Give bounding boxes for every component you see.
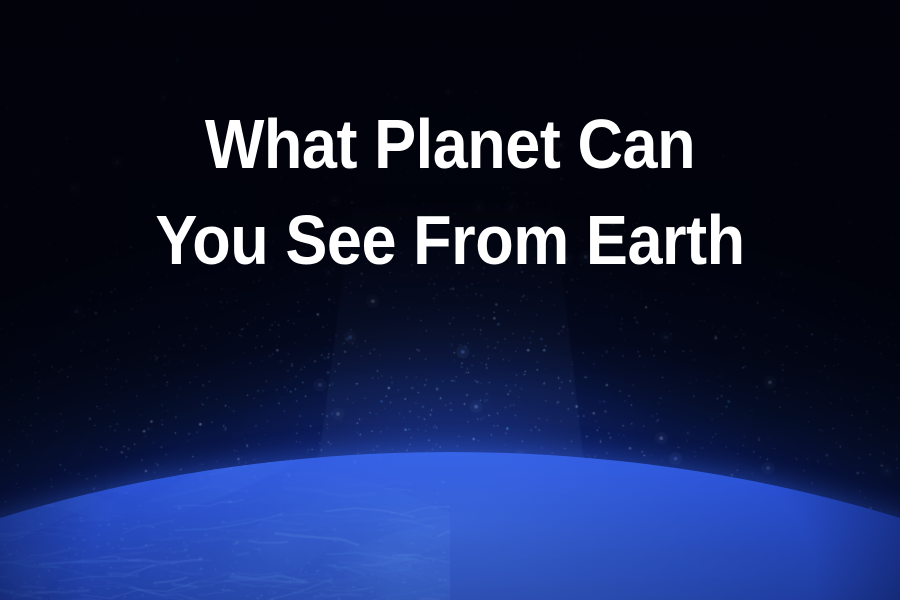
headline-line-2: You See From Earth (45, 192, 855, 288)
title-card-canvas: What Planet Can You See From Earth (0, 0, 900, 600)
headline-line-1: What Planet Can (45, 96, 855, 192)
page-title: What Planet Can You See From Earth (0, 96, 900, 288)
